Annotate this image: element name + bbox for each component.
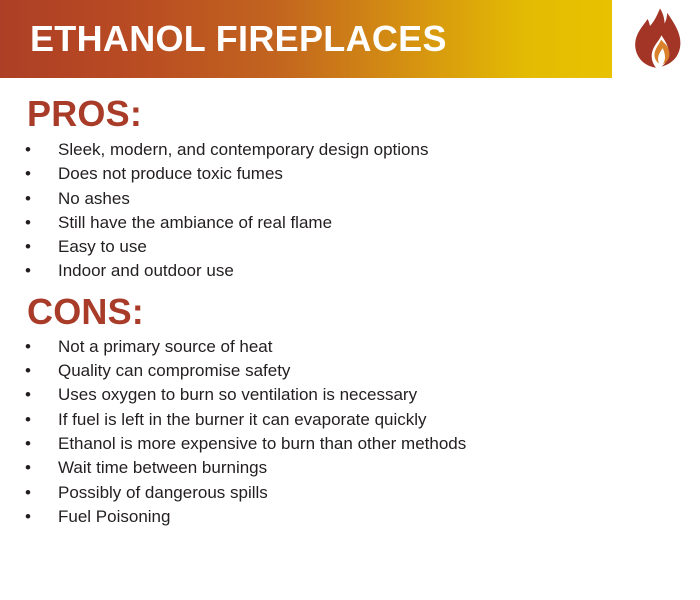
list-item-label: Indoor and outdoor use	[58, 261, 234, 280]
list-item: • Fuel Poisoning	[0, 505, 700, 529]
bullet-icon: •	[25, 335, 31, 359]
list-item: • Does not produce toxic fumes	[0, 162, 700, 186]
list-item: • Easy to use	[0, 235, 700, 259]
list-item-label: Fuel Poisoning	[58, 507, 170, 526]
list-item: • Indoor and outdoor use	[0, 259, 700, 283]
page-header: ETHANOL FIREPLACES	[0, 0, 700, 78]
list-item-label: Does not produce toxic fumes	[58, 164, 283, 183]
bullet-icon: •	[25, 383, 31, 407]
cons-section: CONS: • Not a primary source of heat • Q…	[0, 284, 700, 529]
bullet-icon: •	[25, 408, 31, 432]
list-item-label: No ashes	[58, 189, 130, 208]
list-item-label: Easy to use	[58, 237, 147, 256]
bullet-icon: •	[25, 359, 31, 383]
pros-heading: PROS:	[0, 78, 700, 134]
pros-section: PROS: • Sleek, modern, and contemporary …	[0, 78, 700, 284]
content-area: PROS: • Sleek, modern, and contemporary …	[0, 78, 700, 529]
bullet-icon: •	[25, 187, 31, 211]
bullet-icon: •	[25, 456, 31, 480]
bullet-icon: •	[25, 138, 31, 162]
list-item-label: Still have the ambiance of real flame	[58, 213, 332, 232]
cons-list: • Not a primary source of heat • Quality…	[0, 335, 700, 529]
list-item-label: Possibly of dangerous spills	[58, 483, 268, 502]
list-item: • Still have the ambiance of real flame	[0, 211, 700, 235]
list-item-label: Wait time between burnings	[58, 458, 267, 477]
list-item: • Not a primary source of heat	[0, 335, 700, 359]
bullet-icon: •	[25, 235, 31, 259]
list-item-label: Ethanol is more expensive to burn than o…	[58, 434, 466, 453]
list-item-label: Quality can compromise safety	[58, 361, 290, 380]
bullet-icon: •	[25, 162, 31, 186]
list-item: • Possibly of dangerous spills	[0, 481, 700, 505]
list-item-label: If fuel is left in the burner it can eva…	[58, 410, 427, 429]
list-item-label: Uses oxygen to burn so ventilation is ne…	[58, 385, 417, 404]
list-item: • Wait time between burnings	[0, 456, 700, 480]
bullet-icon: •	[25, 432, 31, 456]
page-title: ETHANOL FIREPLACES	[30, 0, 447, 78]
bullet-icon: •	[25, 505, 31, 529]
list-item: • Ethanol is more expensive to burn than…	[0, 432, 700, 456]
list-item: • Uses oxygen to burn so ventilation is …	[0, 383, 700, 407]
list-item-label: Sleek, modern, and contemporary design o…	[58, 140, 428, 159]
bullet-icon: •	[25, 259, 31, 283]
flame-icon	[633, 8, 685, 72]
list-item: • Quality can compromise safety	[0, 359, 700, 383]
list-item-label: Not a primary source of heat	[58, 337, 272, 356]
cons-heading: CONS:	[0, 284, 700, 332]
list-item: • No ashes	[0, 187, 700, 211]
list-item: • If fuel is left in the burner it can e…	[0, 408, 700, 432]
list-item: • Sleek, modern, and contemporary design…	[0, 138, 700, 162]
bullet-icon: •	[25, 481, 31, 505]
pros-list: • Sleek, modern, and contemporary design…	[0, 138, 700, 284]
bullet-icon: •	[25, 211, 31, 235]
